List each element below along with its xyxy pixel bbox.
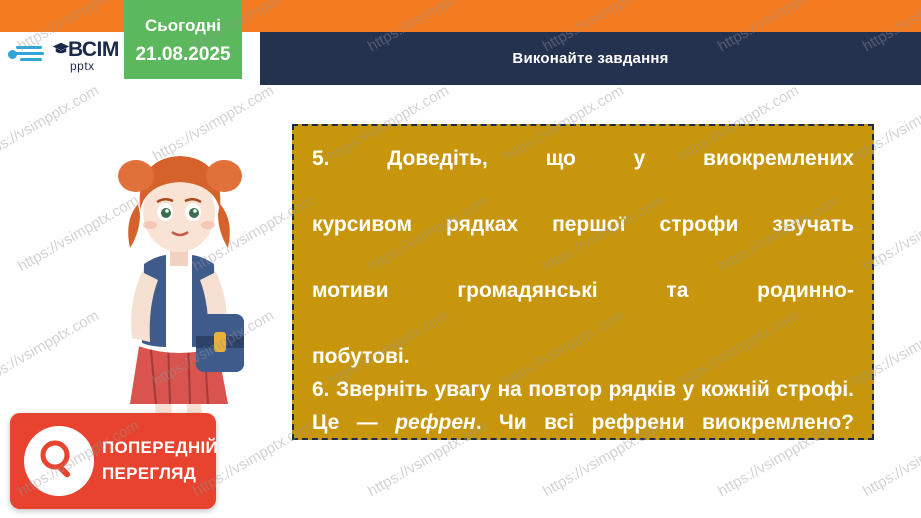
magnifier-icon xyxy=(36,438,82,484)
task-6-text: 6. Зверніть увагу на повтор рядків у кож… xyxy=(312,373,854,472)
preview-button[interactable]: ПОПЕРЕДНІЙ ПЕРЕГЛЯД xyxy=(10,413,216,509)
date-badge: Сьогодні 21.08.2025 xyxy=(124,0,242,79)
page-title: Виконайте завдання xyxy=(260,32,921,85)
preview-button-label: ПОПЕРЕДНІЙ ПЕРЕГЛЯД xyxy=(102,435,212,487)
preview-label-line-1: ПОПЕРЕДНІЙ xyxy=(102,435,212,461)
task-5-line-1: 5. Доведіть, що у виокремлених xyxy=(312,142,854,208)
task-5-line-4: побутові. xyxy=(312,345,410,368)
logo-subtitle: pptx xyxy=(70,59,95,73)
date-badge-date: 21.08.2025 xyxy=(124,44,242,66)
preview-label-line-2: ПЕРЕГЛЯД xyxy=(102,461,212,487)
logo-lines-icon xyxy=(8,46,48,72)
task-6-italic-term: рефрен xyxy=(395,411,476,434)
task-5-line-2: курсивом рядках першої строфи звучать xyxy=(312,208,854,274)
logo: ВСІМ pptx xyxy=(6,36,124,78)
header-strip: Виконайте завдання xyxy=(260,32,921,85)
task-5-line-3: мотиви громадянські та родинно- xyxy=(312,274,854,340)
task-5-text: 5. Доведіть, що у виокремлених курсивом … xyxy=(312,142,854,373)
date-badge-label: Сьогодні xyxy=(124,16,242,36)
slide: Виконайте завдання ВСІМ pptx Сьогодні 21… xyxy=(0,0,921,518)
task-content-box: 5. Доведіть, що у виокремлених курсивом … xyxy=(292,124,874,440)
